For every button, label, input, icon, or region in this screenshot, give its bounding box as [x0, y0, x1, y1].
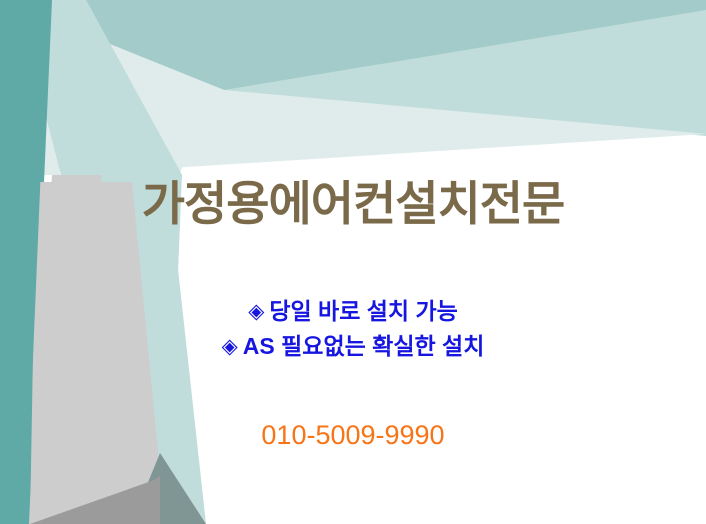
slide-title: 가정용에어컨설치전문 [0, 178, 706, 230]
contact-phone-number: 010-5009-9990 [0, 420, 706, 451]
slide-content: 가정용에어컨설치전문 ◈당일 바로 설치 가능 ◈AS 필요없는 확실한 설치 … [0, 0, 706, 524]
presentation-slide: 가정용에어컨설치전문 ◈당일 바로 설치 가능 ◈AS 필요없는 확실한 설치 … [0, 0, 706, 524]
bullet-item-2-label: AS 필요없는 확실한 설치 [243, 333, 485, 359]
bullet-item-2: ◈AS 필요없는 확실한 설치 [0, 329, 706, 364]
bullet-item-1-label: 당일 바로 설치 가능 [269, 298, 457, 324]
diamond-bullet-icon: ◈ [248, 300, 269, 323]
slide-bullet-list: ◈당일 바로 설치 가능 ◈AS 필요없는 확실한 설치 [0, 294, 706, 364]
bullet-item-1: ◈당일 바로 설치 가능 [0, 294, 706, 329]
diamond-bullet-icon: ◈ [222, 335, 243, 358]
